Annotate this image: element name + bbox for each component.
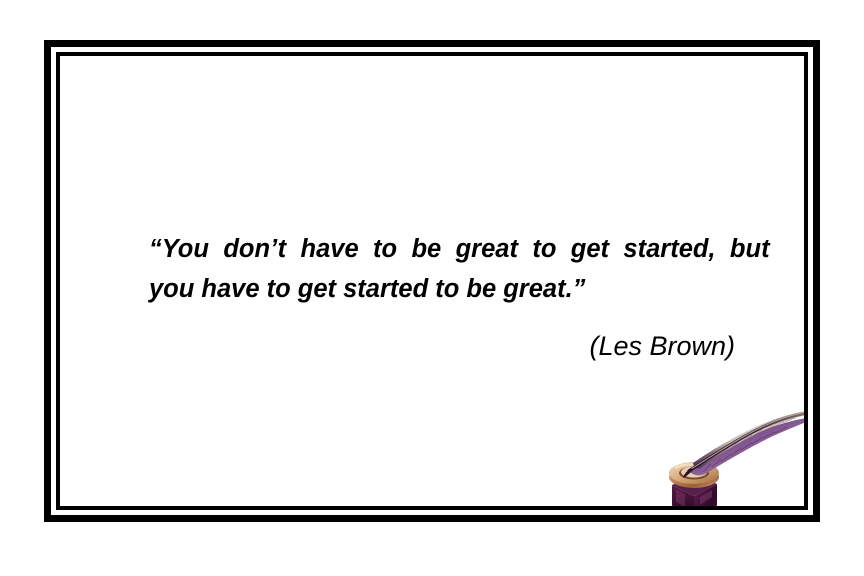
slide-border-inner: “You don’t have to be great to get start… xyxy=(56,52,808,510)
slide-content-area: “You don’t have to be great to get start… xyxy=(60,56,804,506)
quote-attribution: (Les Brown) xyxy=(149,328,735,364)
quill-pen-inkwell-image xyxy=(615,401,804,506)
quote-line-1: “You don’t have to be great to get start… xyxy=(149,229,735,269)
quote-text-block: “You don’t have to be great to get start… xyxy=(149,229,735,309)
slide-border-outer: “You don’t have to be great to get start… xyxy=(44,40,820,522)
quote-line-2: you have to get started to be great.” xyxy=(149,269,735,309)
slide-canvas: “You don’t have to be great to get start… xyxy=(0,0,864,576)
